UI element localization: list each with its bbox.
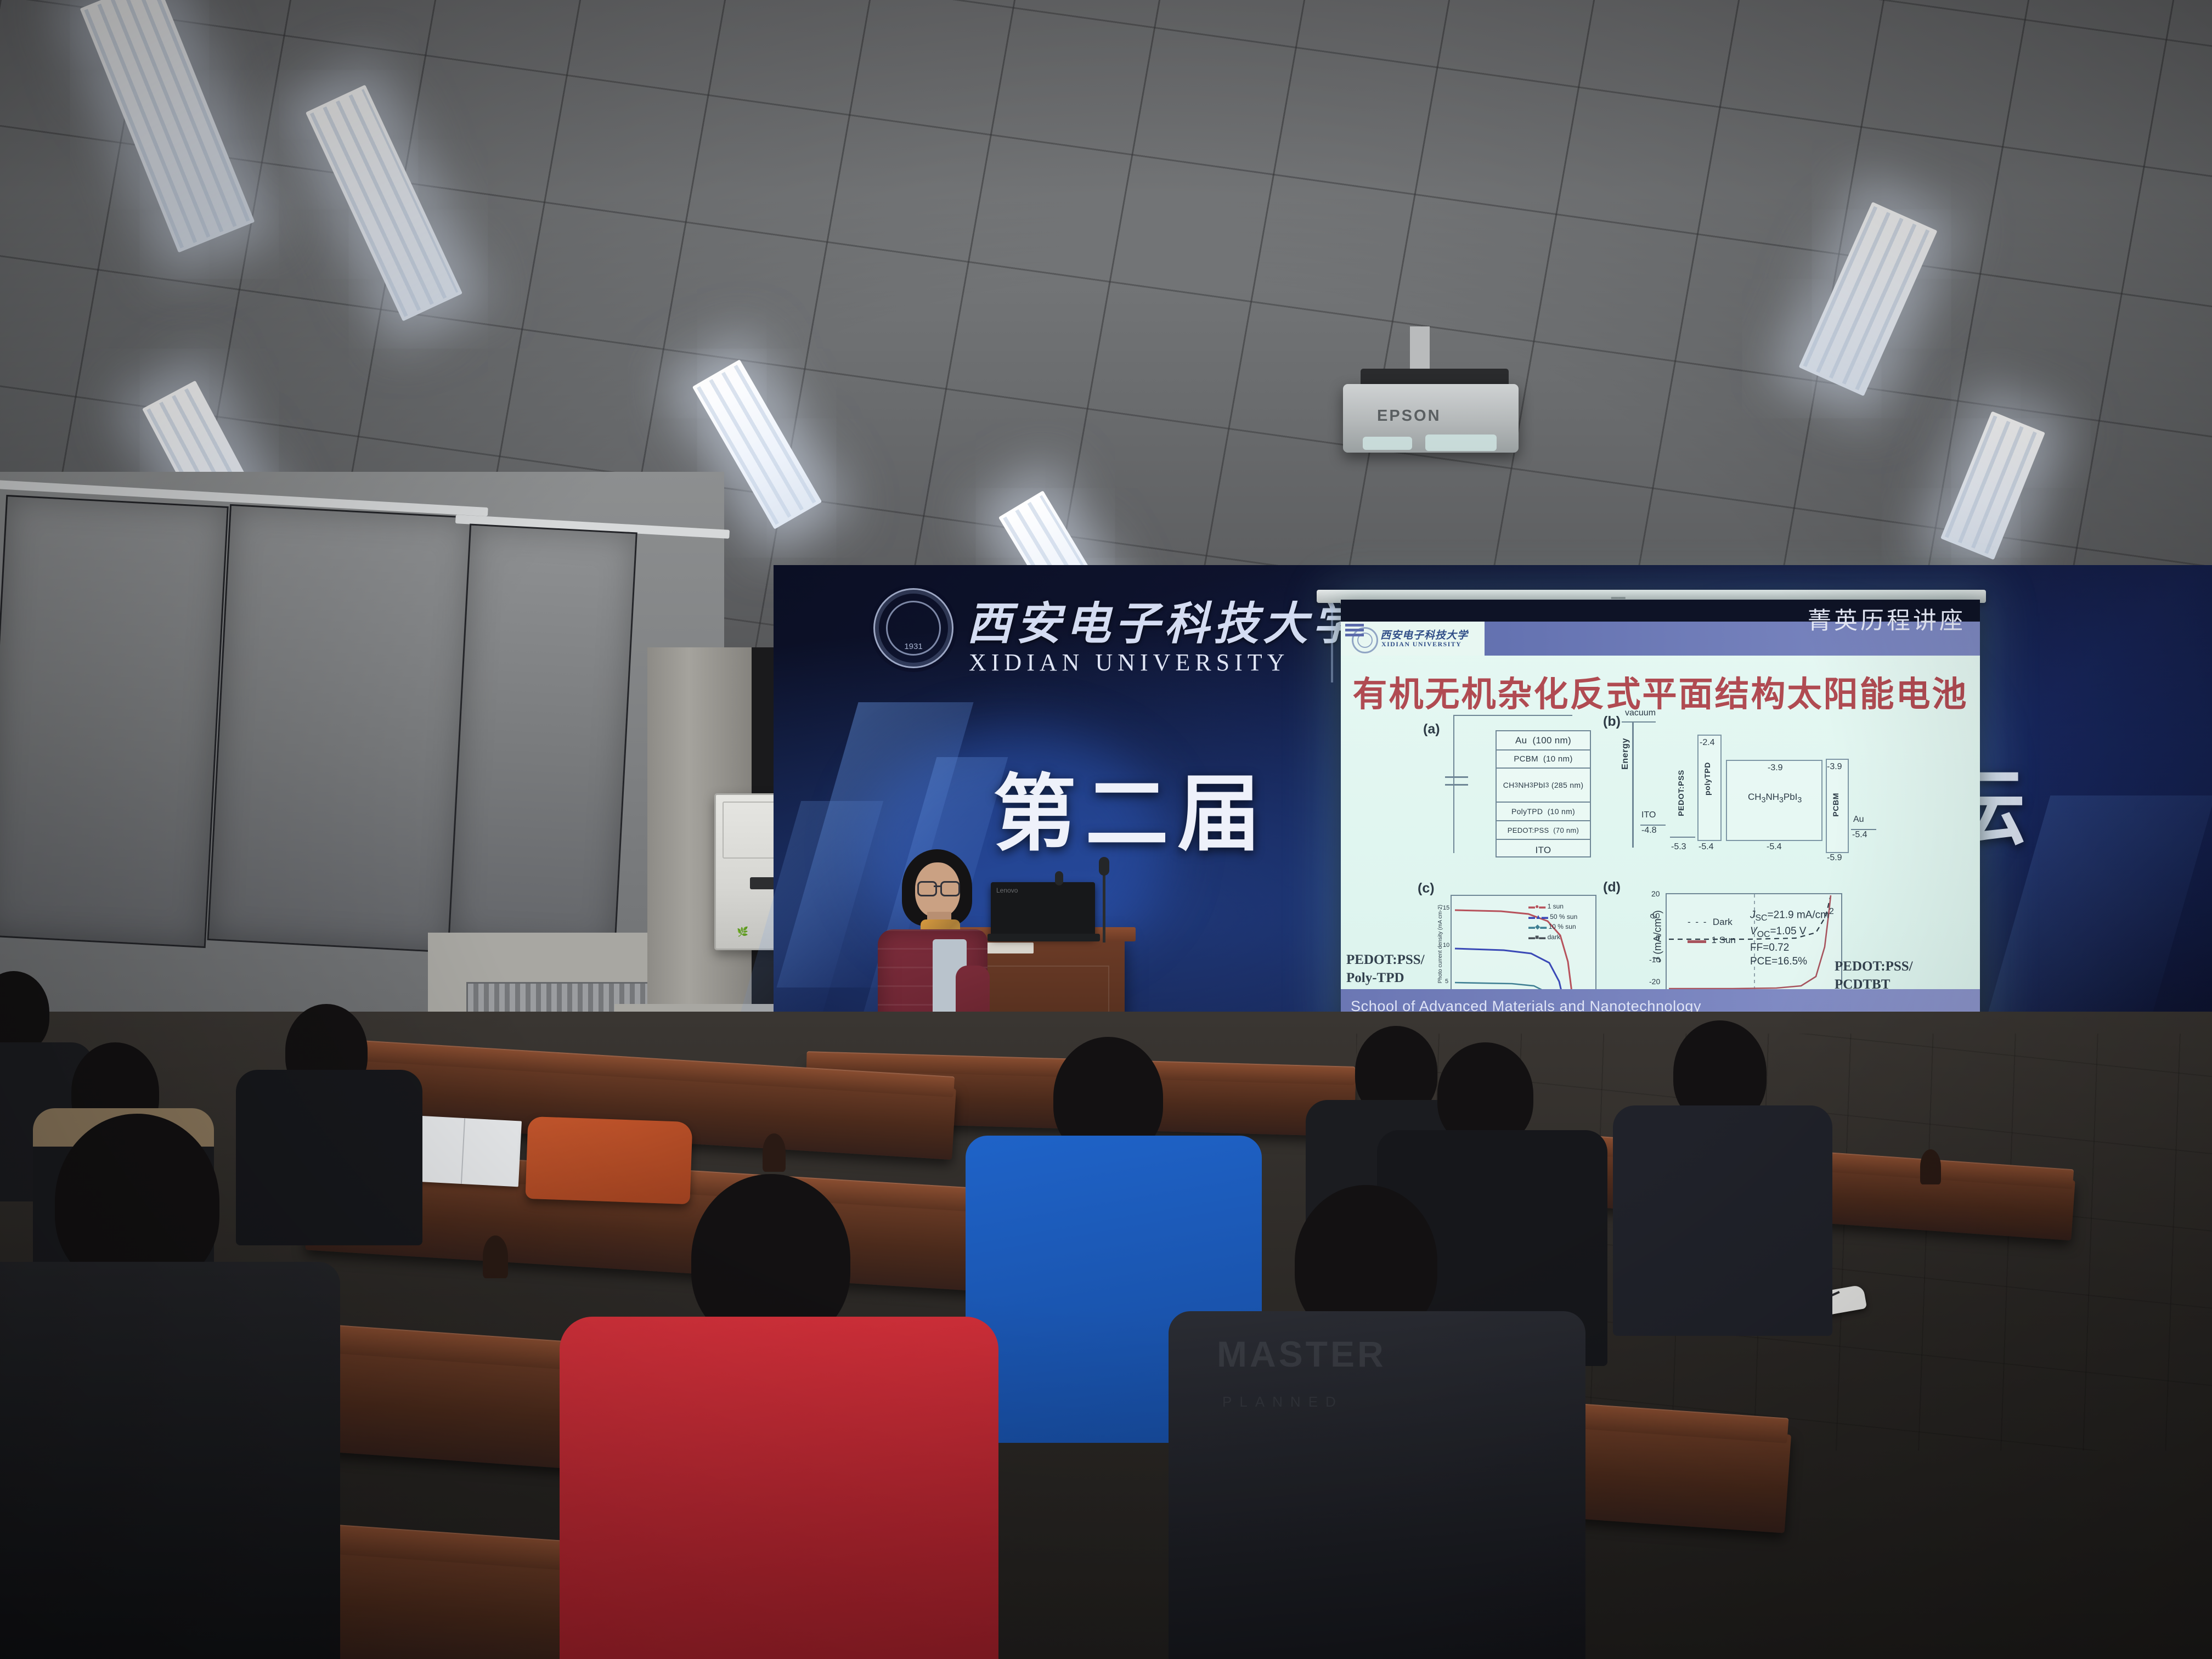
chart-d-ytick: -20 (1649, 977, 1660, 986)
stack-layer: ITO (1497, 840, 1590, 861)
capacitor-plate (1445, 776, 1468, 778)
seal-year-label: 1931 (875, 642, 952, 651)
projector-lens-window (1425, 435, 1497, 451)
stack-layer: PolyTPD (10 nm) (1497, 803, 1590, 821)
audience-coat (236, 1070, 422, 1245)
audience-red-jacket (560, 1317, 998, 1659)
panel-label-d: (d) (1603, 879, 1621, 895)
annotation-voc: VOC=1.05 V (1750, 924, 1834, 941)
presentation-slide: 菁英历程讲座 西安电子科技大学 XIDIAN UNIVERSITY 有机无机杂化… (1341, 600, 1980, 1028)
banner-event-title-cn: 第二届 (993, 746, 1269, 867)
university-seal-icon: 1931 (873, 588, 953, 668)
chart-c-ytick: 5 (1445, 978, 1448, 985)
banner-university-name-cn: 西安电子科技大学 (967, 587, 1362, 652)
jacket-graphic-subtext: PLANNED (1222, 1393, 1344, 1410)
caption-right-line1: PEDOT:PSS/ (1835, 957, 1913, 975)
window-blind[interactable] (207, 504, 474, 953)
projector-body: EPSON (1343, 384, 1519, 453)
slide-logo-text-en: XIDIAN UNIVERSITY (1381, 640, 1462, 648)
stack-layer: PCBM (10 nm) (1497, 751, 1590, 769)
microphone-head (1055, 871, 1063, 885)
caption-left-line1: PEDOT:PSS/ (1346, 951, 1425, 969)
audience-coat (0, 1262, 340, 1659)
projection-screen: 菁英历程讲座 西安电子科技大学 XIDIAN UNIVERSITY 有机无机杂化… (1341, 600, 1980, 1028)
chart-d-annotations: JSC=21.9 mA/cm2 VOC=1.05 V FF=0.72 PCE=1… (1750, 906, 1834, 968)
level-value-pedotpss: -5.3 (1671, 842, 1686, 852)
eyeglasses-bridge (934, 885, 940, 887)
podium-nameplate (984, 943, 1034, 953)
vacuum-level-label: vacuum (1625, 708, 1656, 718)
level-bottom-perovskite: -5.4 (1767, 842, 1782, 852)
orange-backpack[interactable] (525, 1116, 692, 1204)
panel-label-b: (b) (1603, 714, 1621, 730)
speaker-eyeglasses (917, 881, 937, 896)
banner-university-name-en: XIDIAN UNIVERSITY (969, 648, 1289, 676)
device-stack-diagram: Au (100 nm) PCBM (10 nm) CH3NH3PbI3 (285… (1496, 730, 1591, 857)
vacuum-level-line (1622, 721, 1656, 723)
chart-d-ytick: 10 (1651, 911, 1660, 920)
level-value-ito: -4.8 (1641, 826, 1657, 836)
stack-layer: CH3NH3PbI3 (285 nm) (1497, 769, 1590, 803)
level-name-pedotpss: PEDOT:PSS (1677, 770, 1685, 816)
laptop-brand-label: Lenovo (996, 887, 1018, 894)
chart-d-ytick: 0 (1656, 933, 1660, 942)
chart-c-ytick: 15 (1443, 905, 1449, 911)
projector-lens (1363, 437, 1412, 450)
slide-logo-text-cn: 西安电子科技大学 (1380, 627, 1468, 642)
chart-d-legend: - - - Dark ▬▬ 1 Sun (1688, 913, 1736, 949)
chart-c-ytick: 10 (1443, 942, 1449, 949)
energy-axis (1632, 721, 1634, 848)
level-top-perovskite: -3.9 (1768, 763, 1783, 773)
bench-armrest (483, 1235, 508, 1278)
chart-c-legend: ▬●▬ 1 sun ▬▲▬ 50 % sun ▬◆▬ 10 % sun ▬■▬ … (1528, 901, 1577, 942)
window-blind[interactable] (0, 495, 229, 948)
level-name-perovskite: CH3NH3PbI3 (1748, 792, 1802, 804)
level-bottom-pcbm: -5.9 (1827, 853, 1842, 863)
banner-divider (1331, 590, 1333, 682)
chart-d-ytick: 20 (1651, 889, 1660, 898)
chart-d-ytick: -10 (1649, 955, 1660, 964)
level-name-pcbm: PCBM (1831, 793, 1840, 817)
speaker-eyeglasses (940, 881, 960, 896)
chart-panel-d: - - - Dark ▬▬ 1 Sun JSC=21.9 mA/cm2 VOC=… (1666, 893, 1842, 1005)
level-name-polytpd: polyTPD (1703, 762, 1712, 795)
bench-armrest (763, 1133, 786, 1172)
projector-brand-label: EPSON (1377, 407, 1441, 425)
caption-left-line2: Poly-TPD (1346, 969, 1425, 987)
level-top-pcbm: -3.9 (1827, 762, 1842, 772)
microphone-head (1099, 857, 1109, 876)
level-bottom-polytpd: -5.4 (1699, 842, 1714, 852)
slide-accent-bars (1345, 624, 1364, 639)
annotation-ff: FF=0.72 (1750, 941, 1834, 955)
energy-axis-label: Energy (1621, 738, 1630, 770)
panel-label-a: (a) (1423, 721, 1440, 737)
window-blind[interactable] (448, 524, 637, 952)
slide-header-title-cn: 菁英历程讲座 (1808, 602, 1966, 636)
panel-label-c: (c) (1418, 881, 1435, 896)
level-name-ito: ITO (1641, 810, 1656, 820)
level-top-polytpd: -2.4 (1700, 738, 1715, 748)
slide-title: 有机无机杂化反式平面结构太阳能电池 (1341, 667, 1980, 716)
annotation-jsc: JSC=21.9 mA/cm2 (1750, 906, 1834, 924)
lecture-hall-photo: EPSON 🌿 1931 西安电子科技大学 XIDIAN UNIVERSITY (0, 0, 2212, 1659)
laptop[interactable]: Lenovo (991, 882, 1095, 937)
annotation-pce: PCE=16.5% (1750, 955, 1834, 968)
laptop-keyboard-base[interactable] (988, 934, 1100, 941)
audience-coat (1613, 1105, 1832, 1336)
stack-layer: PEDOT:PSS (70 nm) (1497, 821, 1590, 840)
bench-armrest (1920, 1149, 1941, 1184)
ac-leaf-icon: 🌿 (737, 927, 748, 938)
microphone-stem (1103, 871, 1105, 943)
level-line-pedotpss (1670, 837, 1695, 838)
level-name-au: Au (1853, 815, 1864, 825)
level-value-au: -5.4 (1852, 830, 1867, 840)
jacket-graphic-text: MASTER (1217, 1333, 1386, 1375)
stack-layer: Au (100 nm) (1497, 731, 1590, 751)
